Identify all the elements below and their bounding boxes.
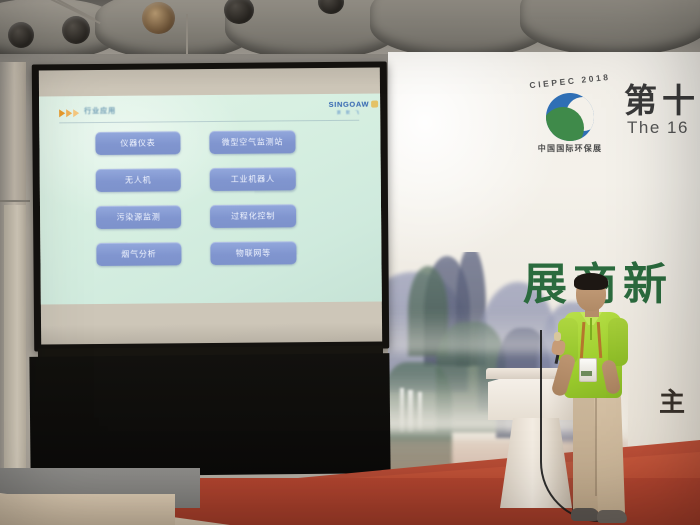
badge-detail — [581, 371, 592, 376]
header-divider — [59, 120, 359, 124]
brand-logo: SINGOAW 赛 默 飞 — [329, 100, 370, 116]
stage-black-skirt — [29, 353, 390, 477]
pipe — [186, 14, 188, 54]
banner-headline-en: The 16 — [627, 118, 689, 138]
duct-segment — [520, 0, 700, 56]
projection-screen: 行业应用 SINGOAW 赛 默 飞 仪器仪表 无人机 污染源监测 烟气分析 微… — [32, 61, 389, 351]
slide-header: 行业应用 SINGOAW 赛 默 飞 — [39, 94, 380, 127]
banner-side-character: 主 — [659, 382, 685, 419]
slide-button[interactable]: 污染源监测 — [96, 205, 181, 229]
sleeve — [608, 318, 628, 366]
presenter — [548, 276, 658, 524]
slide-button[interactable]: 过程化控制 — [210, 204, 296, 228]
slide-button[interactable]: 烟气分析 — [96, 242, 181, 266]
hair — [574, 273, 608, 290]
trouser-leg — [594, 394, 625, 517]
shirt-placket — [590, 318, 592, 340]
banner-headline-cn: 第十 — [624, 74, 700, 122]
exhibition-hall-photo: CIEPEC 2018 中国国际环保展 第十 The 16 展商新 主 行业应用 — [0, 0, 700, 525]
slide-button[interactable]: 工业机器人 — [210, 167, 296, 191]
vent-opening-icon — [142, 2, 175, 34]
floor-step-lower — [0, 494, 175, 525]
ciepec-logo: CIEPEC 2018 中国国际环保展 — [529, 77, 611, 159]
logo-accent-square — [371, 101, 378, 108]
slide-button[interactable]: 微型空气监测站 — [209, 130, 295, 154]
wall-seam — [0, 200, 30, 202]
slide-button[interactable]: 仪器仪表 — [95, 131, 180, 155]
logo-arc-bottom: 中国国际环保展 — [529, 143, 611, 154]
shoe — [597, 510, 627, 523]
logo-emblem — [546, 93, 594, 141]
microphone-icon — [554, 332, 561, 341]
vent-opening-icon — [62, 16, 90, 44]
slide-button-grid: 仪器仪表 无人机 污染源监测 烟气分析 微型空气监测站 工业机器人 过程化控制 … — [39, 130, 381, 301]
shoe — [571, 508, 599, 521]
wall-panel — [4, 205, 26, 485]
name-badge — [579, 358, 597, 382]
slide-header-label: 行业应用 — [84, 106, 116, 116]
brand-logo-subtext: 赛 默 飞 — [329, 110, 370, 116]
double-chevron-right-icon — [66, 109, 72, 117]
double-chevron-right-icon — [73, 109, 79, 117]
trouser-seam — [595, 396, 597, 496]
vent-opening-icon — [8, 22, 34, 48]
double-chevron-right-icon — [59, 109, 65, 117]
projected-slide: 行业应用 SINGOAW 赛 默 飞 仪器仪表 无人机 污染源监测 烟气分析 微… — [39, 94, 382, 305]
screen-surface: 行业应用 SINGOAW 赛 默 飞 仪器仪表 无人机 污染源监测 烟气分析 微… — [39, 68, 382, 345]
slide-button[interactable]: 物联网等 — [210, 241, 296, 265]
brand-logo-text: SINGOAW — [329, 100, 370, 109]
slide-button[interactable]: 无人机 — [96, 168, 181, 192]
